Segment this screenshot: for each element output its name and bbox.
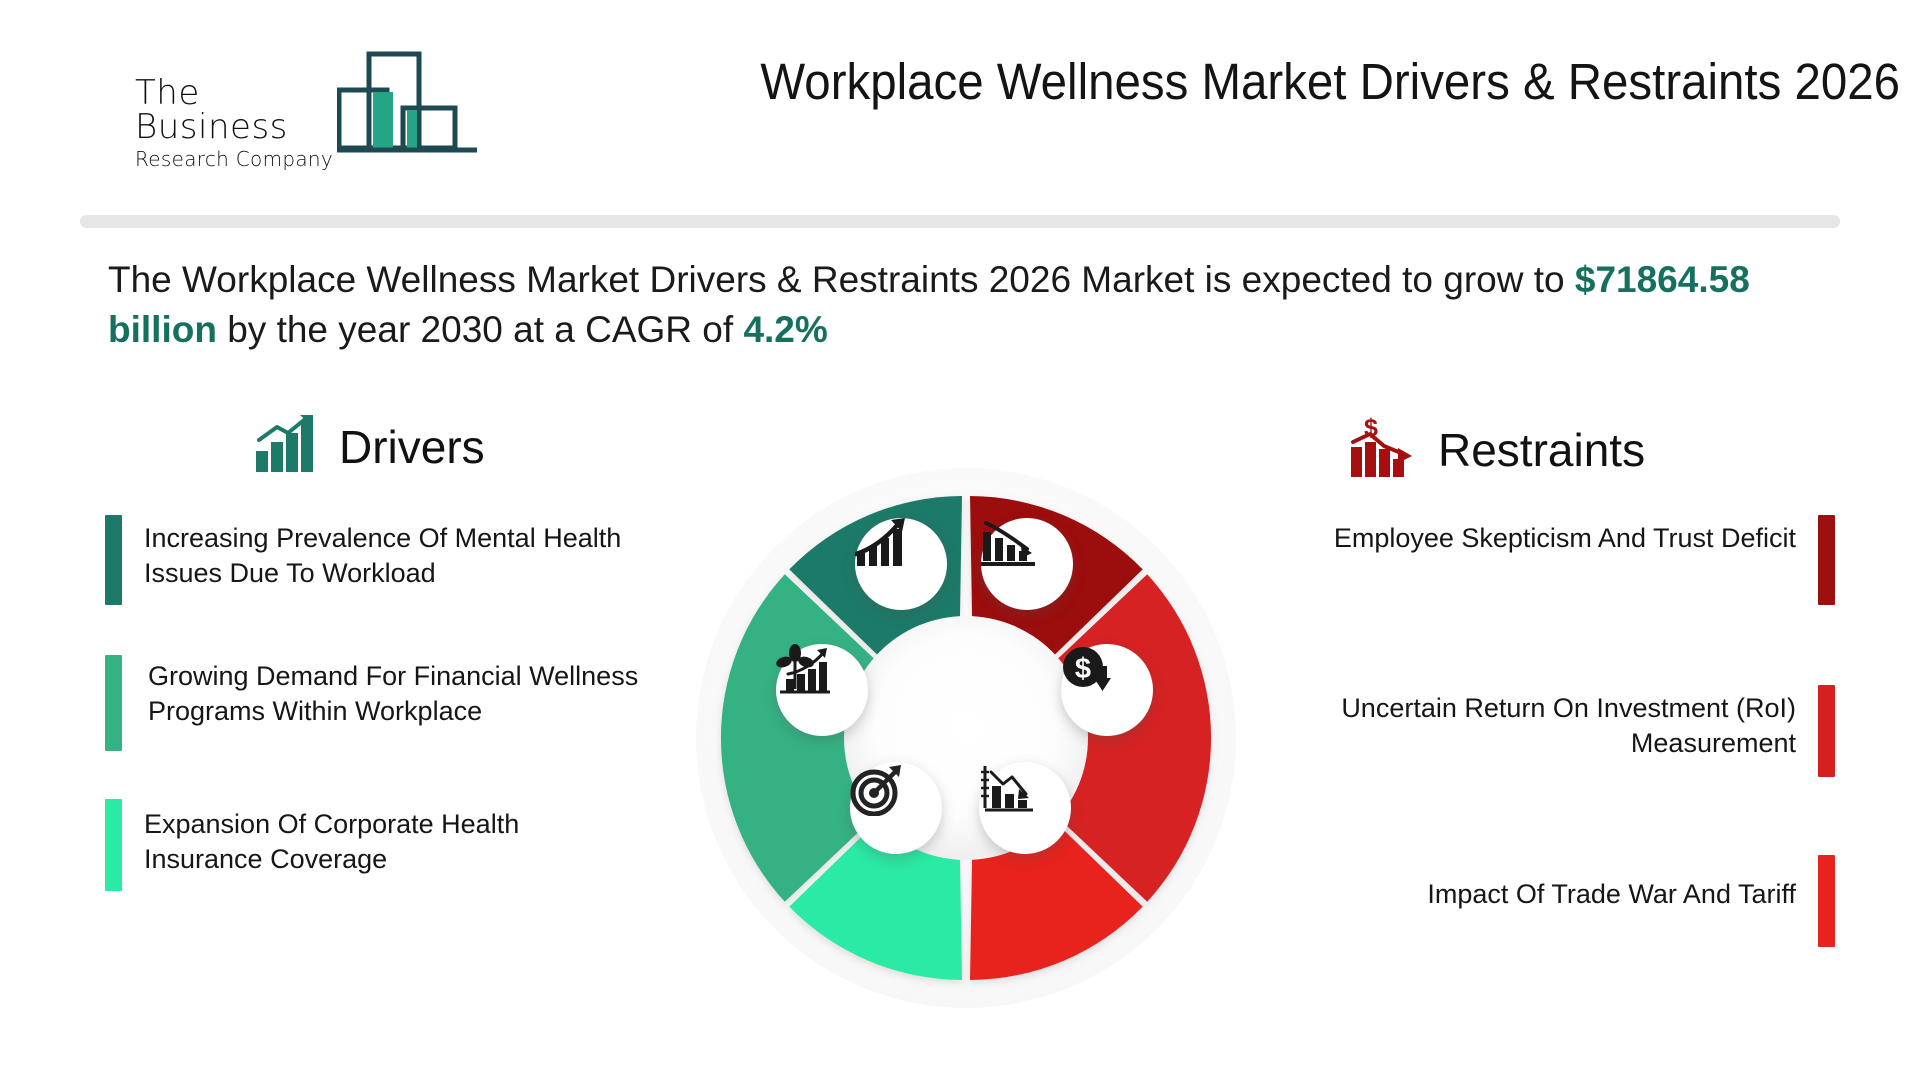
svg-text:$: $	[1075, 653, 1091, 685]
falling-bar-chart-dollar-icon: $	[1350, 415, 1416, 484]
driver-label: Increasing Prevalence Of Mental Health I…	[122, 515, 645, 605]
restraint-accent-bar	[1818, 515, 1835, 605]
wheel-segments	[676, 448, 1256, 1028]
header: The Business Research Company Workplace …	[0, 0, 1920, 200]
rising-bar-chart-icon	[255, 415, 317, 478]
growth-arrow-bar-chart-icon	[855, 518, 947, 610]
cagr-value: 4.2%	[743, 309, 827, 350]
driver-accent-bar	[105, 799, 122, 891]
logo-line-1: The Business	[135, 76, 345, 144]
list-item: Growing Demand For Financial Wellness Pr…	[105, 655, 645, 751]
list-item: Uncertain Return On Investment (RoI) Mea…	[1285, 685, 1835, 777]
restraints-list: Employee Skepticism And Trust Deficit Un…	[1285, 515, 1835, 947]
declining-bar-chart-icon	[981, 518, 1073, 610]
header-divider	[80, 215, 1840, 228]
summary-middle: by the year 2030 at a CAGR of	[217, 309, 744, 350]
list-item: Expansion Of Corporate Health Insurance …	[105, 799, 645, 891]
restraint-accent-bar	[1818, 855, 1835, 947]
company-logo: The Business Research Company	[135, 48, 465, 163]
restraint-label: Employee Skepticism And Trust Deficit	[1334, 515, 1818, 605]
drivers-list: Increasing Prevalence Of Mental Health I…	[105, 515, 645, 891]
list-item: Increasing Prevalence Of Mental Health I…	[105, 515, 645, 605]
driver-label: Growing Demand For Financial Wellness Pr…	[122, 655, 645, 751]
driver-accent-bar	[105, 515, 122, 605]
target-arrow-icon	[850, 762, 942, 854]
restraint-accent-bar	[1818, 685, 1835, 777]
restraint-label: Uncertain Return On Investment (RoI) Mea…	[1285, 685, 1818, 777]
restraints-heading: Restraints	[1438, 423, 1645, 477]
page-title: Workplace Wellness Market Drivers & Rest…	[603, 52, 1900, 111]
bar-chart-logo-mark	[337, 48, 477, 165]
driver-accent-bar	[105, 655, 122, 751]
plant-growth-chart-icon	[776, 644, 868, 736]
restraints-heading-group: $ Restraints	[1350, 415, 1645, 484]
drivers-heading: Drivers	[339, 420, 485, 474]
logo-line-2: Research Company	[135, 149, 345, 169]
list-item: Employee Skepticism And Trust Deficit	[1285, 515, 1835, 605]
summary-prefix: The Workplace Wellness Market Drivers & …	[108, 259, 1575, 300]
falling-line-chart-icon	[979, 762, 1071, 854]
dollar-down-arrow-icon: $	[1061, 644, 1153, 736]
market-summary: The Workplace Wellness Market Drivers & …	[108, 255, 1828, 354]
driver-label: Expansion Of Corporate Health Insurance …	[122, 799, 645, 891]
drivers-restraints-wheel: $	[676, 448, 1256, 1028]
logo-wordmark: The Business Research Company	[135, 76, 345, 169]
drivers-heading-group: Drivers	[255, 415, 485, 478]
restraint-label: Impact Of Trade War And Tariff	[1427, 855, 1818, 947]
list-item: Impact Of Trade War And Tariff	[1285, 855, 1835, 947]
